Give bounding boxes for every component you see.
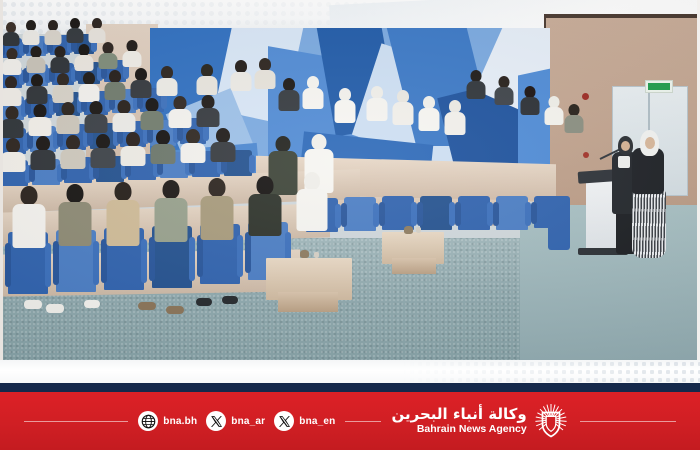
alarm-indicator-icon [582, 93, 589, 100]
social-links: bna.bh bna_ar bn [138, 411, 335, 431]
photo-scene [0, 0, 700, 383]
footer-rule-middle [345, 421, 381, 422]
social-link-website[interactable]: bna.bh [138, 411, 197, 431]
footer-content-row: bna.bh bna_ar bn [0, 392, 700, 450]
social-link-x-arabic[interactable]: bna_ar [206, 411, 265, 431]
footer-rule-right [580, 421, 676, 422]
bna-brand-lockup: وكالة أنباء البحرين Bahrain News Agency [391, 403, 567, 439]
coffee-pot-icon [404, 226, 413, 234]
brand-name-arabic: وكالة أنباء البحرين [391, 407, 526, 422]
coffee-pot-icon [300, 250, 309, 258]
cup-icon [314, 252, 319, 258]
social-link-x-english[interactable]: bna_en [274, 411, 335, 431]
bahrain-shield-emblem-icon [534, 403, 568, 439]
social-label-x-arabic: bna_ar [231, 416, 265, 427]
coffee-table-leg [278, 292, 338, 312]
bna-photo-card: bna.bh bna_ar bn [0, 0, 700, 450]
bna-brand-text: وكالة أنباء البحرين Bahrain News Agency [391, 407, 526, 435]
footer-rule-left [24, 421, 128, 422]
bna-footer-bar: bna.bh bna_ar bn [0, 392, 700, 450]
photo-left-edge [0, 0, 3, 383]
x-twitter-icon [274, 411, 294, 431]
globe-icon [138, 411, 158, 431]
exit-sign-icon [645, 80, 673, 93]
social-label-x-english: bna_en [299, 416, 335, 427]
x-twitter-icon [206, 411, 226, 431]
news-photo [0, 0, 700, 383]
navy-accent-bar [0, 383, 700, 392]
white-separator-band [0, 360, 700, 383]
social-label-website: bna.bh [163, 416, 197, 427]
coffee-table-leg [392, 258, 436, 274]
cup-icon [416, 227, 421, 233]
side-seat [548, 196, 570, 250]
brand-name-english: Bahrain News Agency [417, 424, 527, 435]
alarm-indicator-icon [583, 152, 589, 158]
